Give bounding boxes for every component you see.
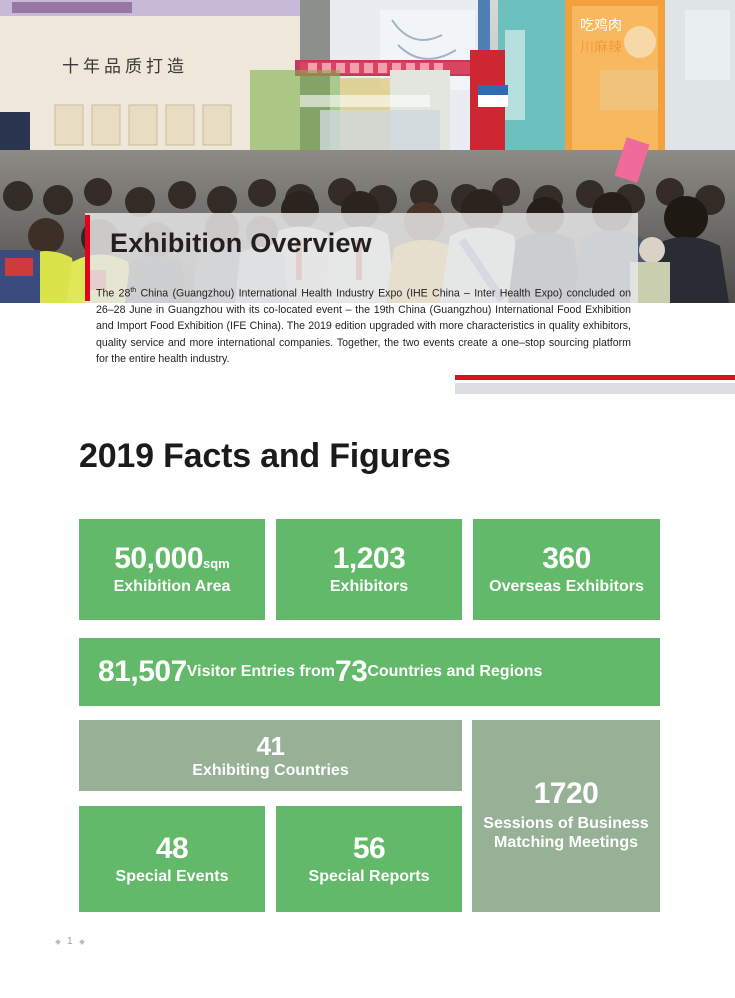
stat-label-overseas-exhibitors: Overseas Exhibitors: [489, 579, 644, 595]
page-footer: 1: [56, 936, 84, 947]
stat-label-business-matching-sessions: Sessions of Business Matching Meetings: [472, 815, 660, 853]
stat-card-visitor-entries: 81,507 Visitor Entries from 73 Countries…: [79, 638, 660, 706]
stat-label-special-reports: Special Reports: [309, 869, 430, 885]
stat-card-special-reports: 56 Special Reports: [276, 806, 462, 912]
overview-accent-bar: [85, 215, 90, 301]
section-divider: [455, 375, 735, 394]
diamond-ornament-left-icon: [55, 939, 61, 945]
stat-card-special-events: 48 Special Events: [79, 806, 265, 912]
svg-text:吃鸡肉: 吃鸡肉: [580, 17, 622, 34]
stat-label-visitor-entries: Visitor Entries from: [187, 664, 335, 680]
stat-card-exhibition-area: 50,000sqm Exhibition Area: [79, 519, 265, 620]
page: 十年品质打造: [0, 0, 735, 998]
stat-number-visitor-entries: 81,507: [98, 657, 187, 687]
page-title: 2019 Facts and Figures: [79, 437, 451, 476]
divider-gray-rule: [455, 383, 735, 394]
stat-number-special-events: 48: [156, 834, 188, 864]
stat-number-exhibitors: 1,203: [333, 544, 406, 574]
stat-label-special-events: Special Events: [116, 869, 229, 885]
stat-card-exhibitors: 1,203 Exhibitors: [276, 519, 462, 620]
stat-value-exhibition-area: 50,000sqm: [114, 544, 230, 574]
overview-title: Exhibition Overview: [110, 228, 372, 259]
stat-label-exhibition-area: Exhibition Area: [114, 579, 231, 595]
stat-unit-sqm: sqm: [203, 556, 230, 571]
stat-number-overseas-exhibitors: 360: [542, 544, 591, 574]
stat-label-exhibitors: Exhibitors: [330, 579, 408, 595]
svg-text:十年品质打造: 十年品质打造: [62, 57, 188, 77]
overview-body: The 28th China (Guangzhou) International…: [96, 283, 631, 368]
stat-card-business-matching-sessions: 1720 Sessions of Business Matching Meeti…: [472, 720, 660, 912]
page-number: 1: [67, 936, 73, 947]
divider-red-rule: [455, 375, 735, 380]
stat-label-countries-regions: Countries and Regions: [367, 664, 542, 680]
svg-text:川麻辣: 川麻辣: [580, 40, 622, 56]
diamond-ornament-right-icon: [79, 939, 85, 945]
stat-number-exhibition-area: 50,000: [114, 542, 203, 575]
stat-card-exhibiting-countries: 41 Exhibiting Countries: [79, 720, 462, 791]
stat-number-countries-regions: 73: [335, 657, 367, 687]
stat-card-overseas-exhibitors: 360 Overseas Exhibitors: [473, 519, 660, 620]
overview-body-rest: China (Guangzhou) International Health I…: [96, 288, 631, 366]
stat-number-business-matching-sessions: 1720: [534, 779, 599, 809]
overview-body-prefix: The 28: [96, 288, 130, 300]
stat-number-special-reports: 56: [353, 834, 385, 864]
stat-number-exhibiting-countries: 41: [257, 733, 285, 759]
stat-label-exhibiting-countries: Exhibiting Countries: [192, 763, 348, 779]
